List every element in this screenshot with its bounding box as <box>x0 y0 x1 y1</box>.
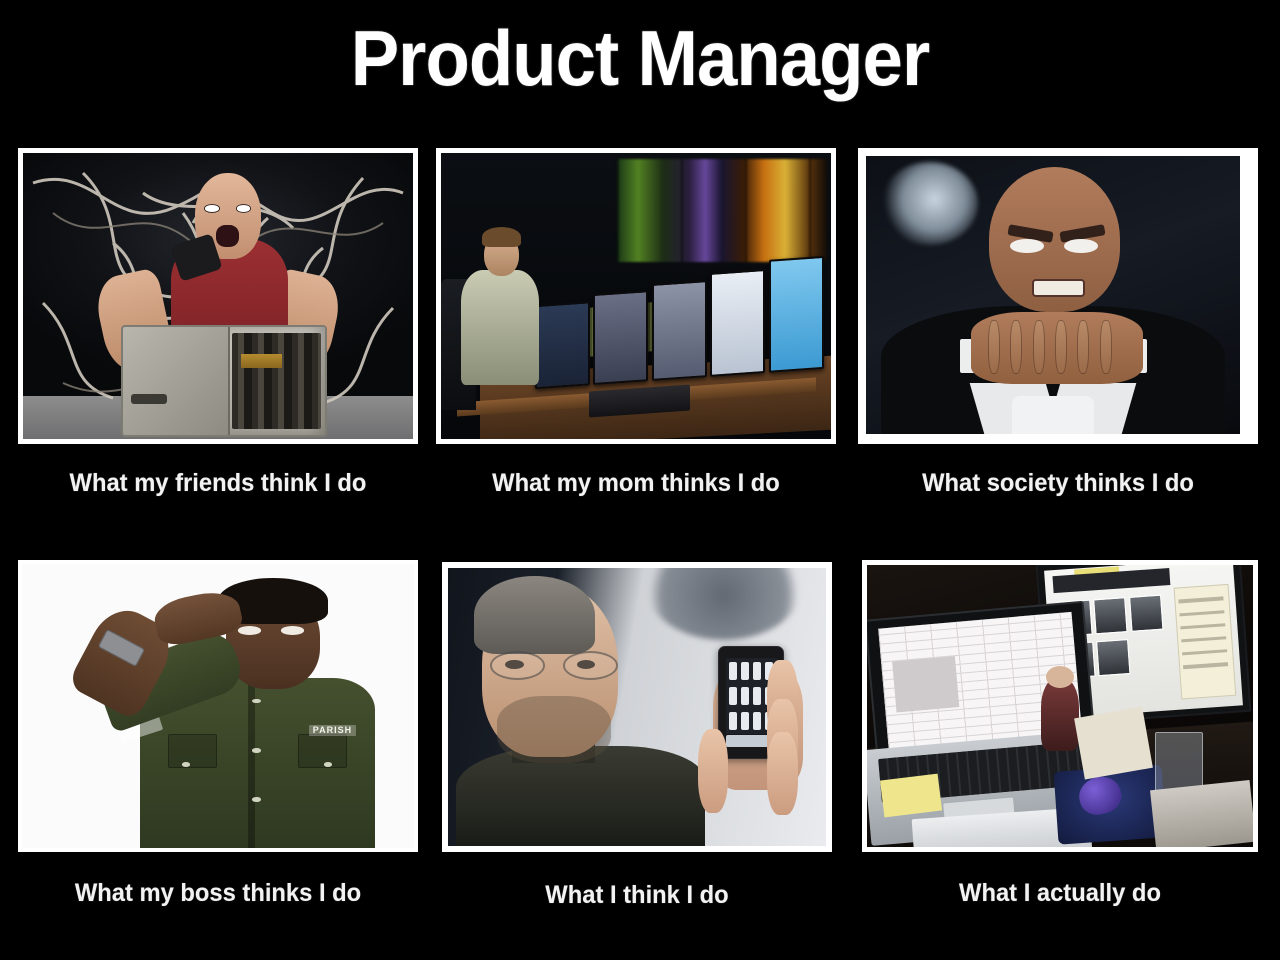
open-pc-case <box>121 325 328 438</box>
paper-stack <box>1150 780 1253 847</box>
button-3 <box>252 797 260 802</box>
photo-frame <box>436 148 836 444</box>
text-line <box>1179 609 1223 615</box>
white-shirt <box>1012 396 1095 434</box>
panel-boss: PARISH What my boss thinks I do <box>18 560 418 852</box>
panel-self: What I think I do <box>442 562 832 852</box>
app-icon <box>753 712 761 730</box>
monitor-1 <box>535 301 590 389</box>
page-title: Product Manager <box>45 14 1235 102</box>
steepled-hands <box>971 312 1143 384</box>
pocket-right <box>298 734 347 768</box>
selected-cell-range <box>892 656 958 712</box>
desk-figurine <box>1041 678 1080 751</box>
panel-mom: What my mom thinks I do <box>436 148 836 444</box>
text-line <box>1180 623 1224 629</box>
app-icon <box>753 687 761 705</box>
monitor-4 <box>710 268 765 376</box>
lens-right <box>563 651 618 680</box>
photo-boss: PARISH <box>22 564 414 848</box>
finger-5 <box>1077 320 1089 373</box>
text-line <box>1183 662 1227 668</box>
photo-frame <box>18 148 418 444</box>
caption-society: What society thinks I do <box>868 468 1248 498</box>
finger-3 <box>767 732 797 815</box>
app-icon <box>741 712 749 730</box>
monitor-2 <box>593 290 648 385</box>
sticky-note <box>880 773 942 816</box>
finger-2 <box>1010 320 1022 373</box>
shouting-mouth <box>216 225 239 248</box>
name-tag: PARISH <box>309 725 356 736</box>
lens-left <box>490 651 545 680</box>
thumb <box>698 729 728 812</box>
photo-frame: PARISH <box>18 560 418 852</box>
photo-frame <box>862 560 1258 852</box>
app-icon <box>741 662 749 680</box>
app-icon <box>729 662 737 680</box>
thumbnail-5 <box>1096 639 1131 676</box>
button-1 <box>252 699 260 704</box>
pc-internals <box>232 333 321 429</box>
thumbnail-2 <box>1093 597 1128 634</box>
button-2 <box>252 748 260 753</box>
stubble <box>497 696 610 763</box>
finger-3 <box>1033 320 1045 373</box>
panel-friends: What my friends think I do <box>18 148 418 444</box>
panel-actual: What I actually do <box>862 560 1258 852</box>
rimless-glasses-icon <box>490 651 619 676</box>
page-header-bar <box>1052 567 1170 593</box>
pocket-button-right <box>324 762 332 767</box>
gritted-teeth <box>1034 281 1083 295</box>
left-eye <box>238 626 262 635</box>
photo-frame <box>858 148 1258 444</box>
caption-friends: What my friends think I do <box>28 468 408 498</box>
app-icon <box>729 712 737 730</box>
pocket-button-left <box>182 762 190 767</box>
caption-actual: What I actually do <box>872 878 1248 908</box>
pocket-left <box>168 734 217 768</box>
monitor-row <box>535 254 824 389</box>
thumbnail-3 <box>1129 595 1164 632</box>
monitor-5 <box>768 255 823 373</box>
drive-slot <box>131 394 167 404</box>
photo-self <box>448 568 826 846</box>
app-icon <box>729 687 737 705</box>
moon-glow-icon <box>881 162 978 245</box>
text-line <box>1182 649 1226 655</box>
app-icon <box>753 662 761 680</box>
caption-mom: What my mom thinks I do <box>446 468 826 498</box>
meme-canvas: Product Manager <box>0 0 1280 960</box>
photo-friends <box>23 153 413 439</box>
right-eye <box>236 204 252 213</box>
photo-frame <box>442 562 832 852</box>
presenter-hair <box>474 576 595 654</box>
wall-display-bank <box>617 159 828 262</box>
panel-society: What society thinks I do <box>858 148 1258 444</box>
caption-boss: What my boss thinks I do <box>28 878 408 908</box>
operator-body <box>461 270 539 384</box>
operator-hair <box>482 227 521 247</box>
photo-actual <box>867 565 1253 847</box>
finger-1 <box>988 320 1000 373</box>
sidebar-panel <box>1173 584 1235 699</box>
monitor-3 <box>651 279 706 381</box>
text-line <box>1181 636 1225 642</box>
left-eye <box>204 204 220 213</box>
right-eye <box>281 626 305 635</box>
finger-6 <box>1100 320 1112 373</box>
photo-society <box>866 156 1240 434</box>
caption-self: What I think I do <box>452 880 823 910</box>
finger-4 <box>1055 320 1067 373</box>
pc-front-bezel <box>123 327 230 436</box>
text-line <box>1178 596 1222 602</box>
app-icon <box>741 687 749 705</box>
photo-mom <box>441 153 831 439</box>
loose-paper <box>1074 706 1153 779</box>
